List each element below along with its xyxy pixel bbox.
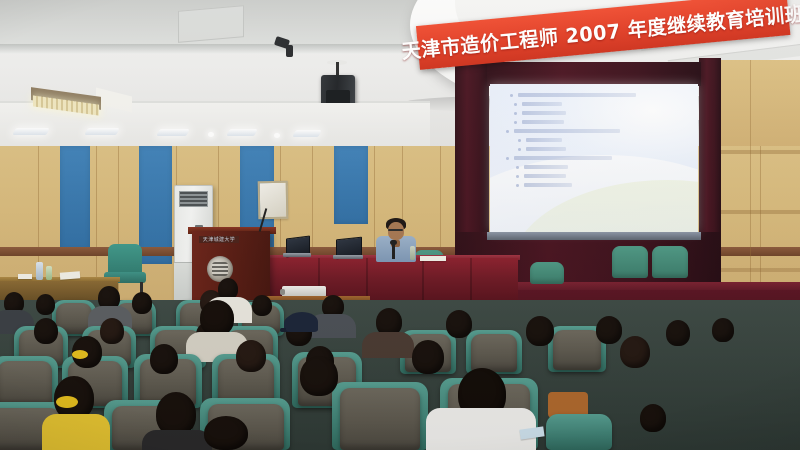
stage-chair: [612, 246, 648, 278]
seat[interactable]: [471, 334, 517, 372]
desk-papers: [60, 271, 80, 279]
hair-tie: [72, 350, 88, 359]
ceiling-slab-edge: [0, 44, 470, 54]
slide-bullet-icon: [518, 139, 521, 142]
projector-lens-icon: [280, 289, 285, 295]
slide-bullet-icon: [516, 175, 519, 178]
attendee-head: [300, 356, 338, 396]
water-bottle: [46, 266, 52, 280]
slide-text-line: [522, 120, 564, 124]
slide-bullet-line: [514, 156, 648, 160]
attendee-yellow-top: [42, 414, 110, 450]
seat[interactable]: [553, 330, 601, 370]
attendee-head: [640, 404, 666, 432]
slide-bullet-line: [524, 183, 648, 187]
seat[interactable]: [340, 388, 420, 450]
attendee-head: [596, 316, 622, 344]
slide-bullet-icon: [514, 103, 517, 106]
ceiling-vent: [178, 5, 244, 43]
slide-text-line: [522, 111, 566, 115]
attendee-head: [100, 318, 124, 344]
slide-text-line: [524, 165, 568, 169]
slide-bullet-icon: [506, 130, 509, 133]
slide-text-line: [526, 147, 566, 151]
presenter-head: [388, 222, 404, 240]
attendee-head: [526, 316, 554, 346]
seat-frame[interactable]: [546, 414, 612, 450]
downlight-icon: [274, 133, 280, 138]
laptop-base[interactable]: [283, 253, 311, 257]
hair-tie: [56, 396, 78, 408]
recessed-ceiling-light: [226, 129, 257, 136]
desk-papers: [18, 274, 32, 279]
slide-text-line: [524, 183, 572, 187]
slide-bullet-line: [514, 129, 648, 133]
slide-bullet-icon: [510, 94, 513, 97]
slide-bullet-icon: [516, 184, 519, 187]
slide-bullet-icon: [514, 121, 517, 124]
speaker-pole: [336, 62, 339, 76]
slide-bullet-line: [524, 174, 648, 178]
spotlight-arm: [286, 45, 293, 57]
recessed-ceiling-light: [84, 128, 119, 135]
attendee-head: [446, 310, 472, 338]
slide-bullet-line: [524, 165, 648, 169]
attendee-head: [236, 340, 266, 372]
slide-text-line: [526, 138, 562, 142]
slide-bullet-icon: [514, 112, 517, 115]
lectern-nameplate-text: 天津城建大学: [203, 236, 235, 243]
attendee-shoulders: [142, 430, 212, 450]
slide-text-line: [518, 93, 636, 97]
water-bottle: [36, 262, 43, 280]
attendee-shoulders: [362, 332, 414, 358]
screen-bottom-bar: [487, 232, 701, 240]
attendee-cap: [286, 312, 318, 332]
seat[interactable]: [0, 361, 52, 406]
water-bottle: [410, 246, 415, 260]
recessed-ceiling-light: [156, 129, 189, 136]
slide-text-line: [514, 156, 612, 160]
presentation-screen: [490, 84, 698, 232]
slide-text-line: [514, 129, 620, 133]
attendee-head: [36, 294, 55, 315]
recessed-ceiling-light: [12, 128, 49, 135]
slide-text-line: [522, 102, 562, 106]
microphone-icon: [392, 243, 395, 259]
attendee-head: [412, 340, 444, 374]
slide-bullet-line: [522, 102, 648, 106]
wall-frame: [258, 181, 289, 220]
slide-bullet-icon: [516, 166, 519, 169]
attendee-head: [150, 344, 178, 374]
stage-chair: [530, 262, 564, 284]
acoustic-panel-blue: [60, 146, 90, 250]
slide-bullet-line: [518, 93, 648, 97]
attendee-head: [252, 295, 272, 316]
emblem-inner: [212, 262, 228, 276]
recessed-ceiling-light: [292, 130, 321, 137]
attendee-head: [666, 320, 690, 346]
slide-bullet-line: [522, 111, 648, 115]
ac-vent-icon: [179, 191, 208, 207]
slide-bullet-line: [526, 147, 648, 151]
slide-bullet-icon: [518, 148, 521, 151]
slide-bullet-line: [522, 120, 648, 124]
table-papers: [420, 256, 446, 261]
stage-chair: [652, 246, 688, 278]
slide-text-line: [524, 174, 566, 178]
side-chair-back[interactable]: [108, 244, 142, 274]
lectern-nameplate: 天津城建大学: [199, 236, 239, 243]
attendee-head: [620, 336, 650, 368]
microphone-head-icon: [390, 240, 397, 245]
stage-curtain-top: [487, 62, 701, 86]
slide-bullet-line: [526, 138, 648, 142]
acoustic-panel-blue: [334, 146, 368, 224]
attendee-head: [204, 416, 248, 450]
attendee-head: [200, 300, 234, 336]
slide-bullet-list: [508, 93, 648, 192]
attendee-head: [132, 292, 152, 314]
slide-bullet-icon: [506, 157, 509, 160]
attendee-head: [34, 318, 58, 344]
downlight-icon: [208, 132, 214, 137]
laptop-base[interactable]: [333, 255, 363, 259]
attendee-head: [712, 318, 734, 342]
photo-scene: 天津市造价工程师 2007 年度继续教育培训班 天津城建大学: [0, 0, 800, 450]
presenter-glasses-icon: [388, 229, 403, 231]
